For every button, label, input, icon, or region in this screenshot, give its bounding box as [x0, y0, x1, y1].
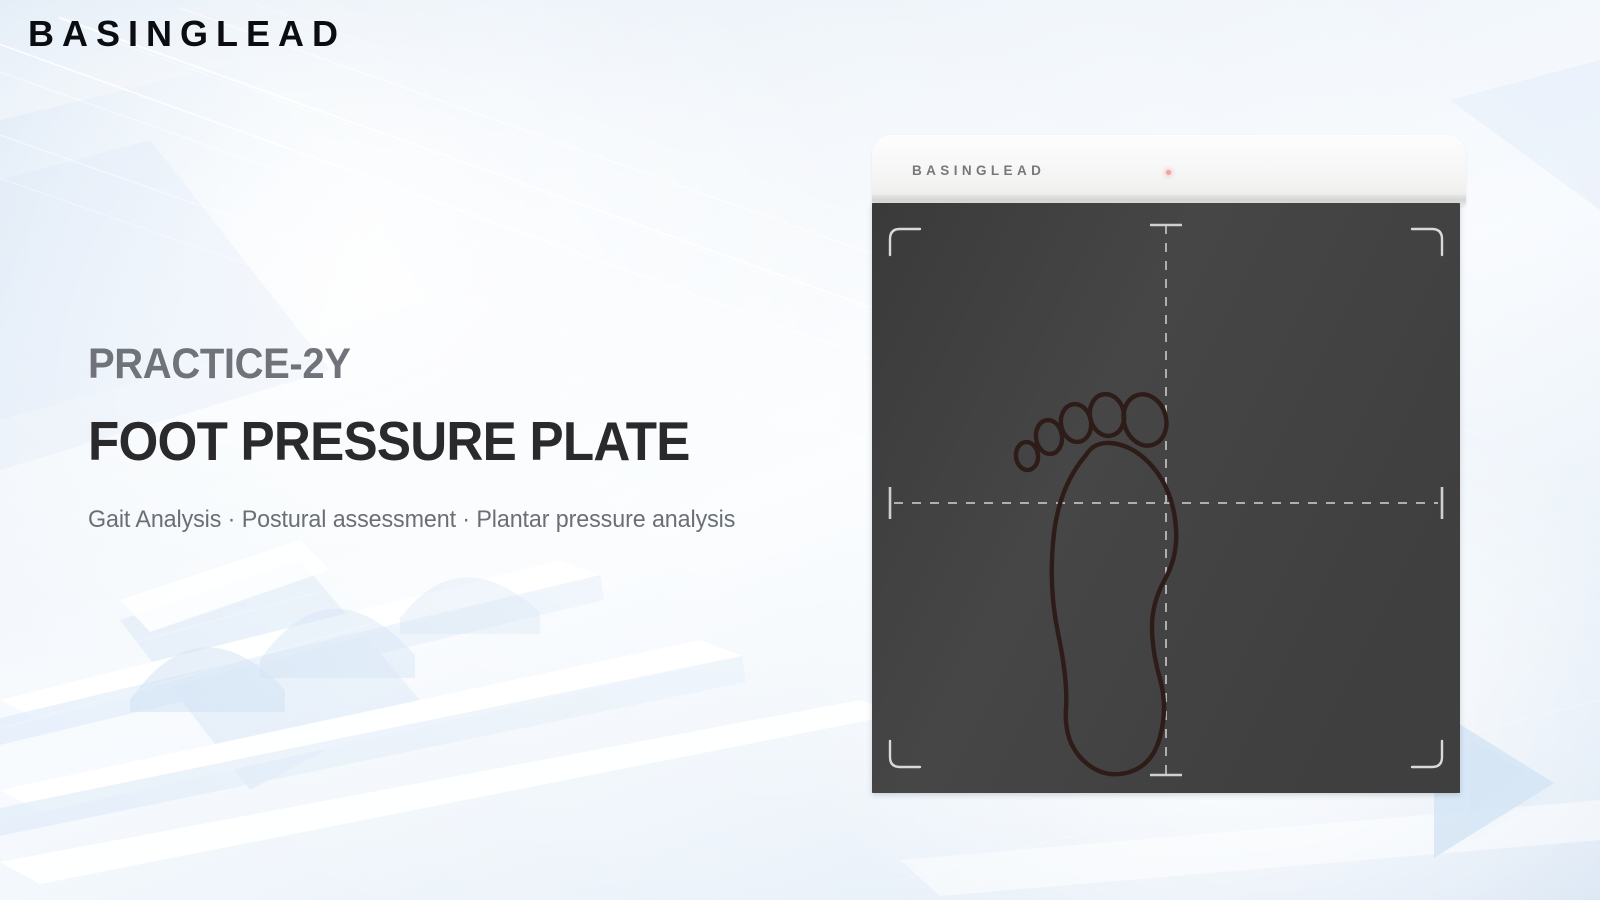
product-tagline: Gait Analysis · Postural assessment · Pl…: [88, 504, 825, 536]
device-header-bar: BASINGLEAD: [872, 135, 1466, 206]
sensor-plate: [872, 203, 1460, 793]
headline-block: PRACTICE-2Y FOOT PRESSURE PLATE Gait Ana…: [88, 338, 848, 536]
power-led-icon: [1166, 170, 1171, 175]
device-brand-logo: BASINGLEAD: [912, 163, 1045, 179]
brand-logo: BASINGLEAD: [28, 12, 346, 56]
product-device-image: BASINGLEAD: [864, 128, 1468, 808]
product-title: FOOT PRESSURE PLATE: [88, 410, 795, 472]
product-model-name: PRACTICE-2Y: [88, 338, 795, 390]
